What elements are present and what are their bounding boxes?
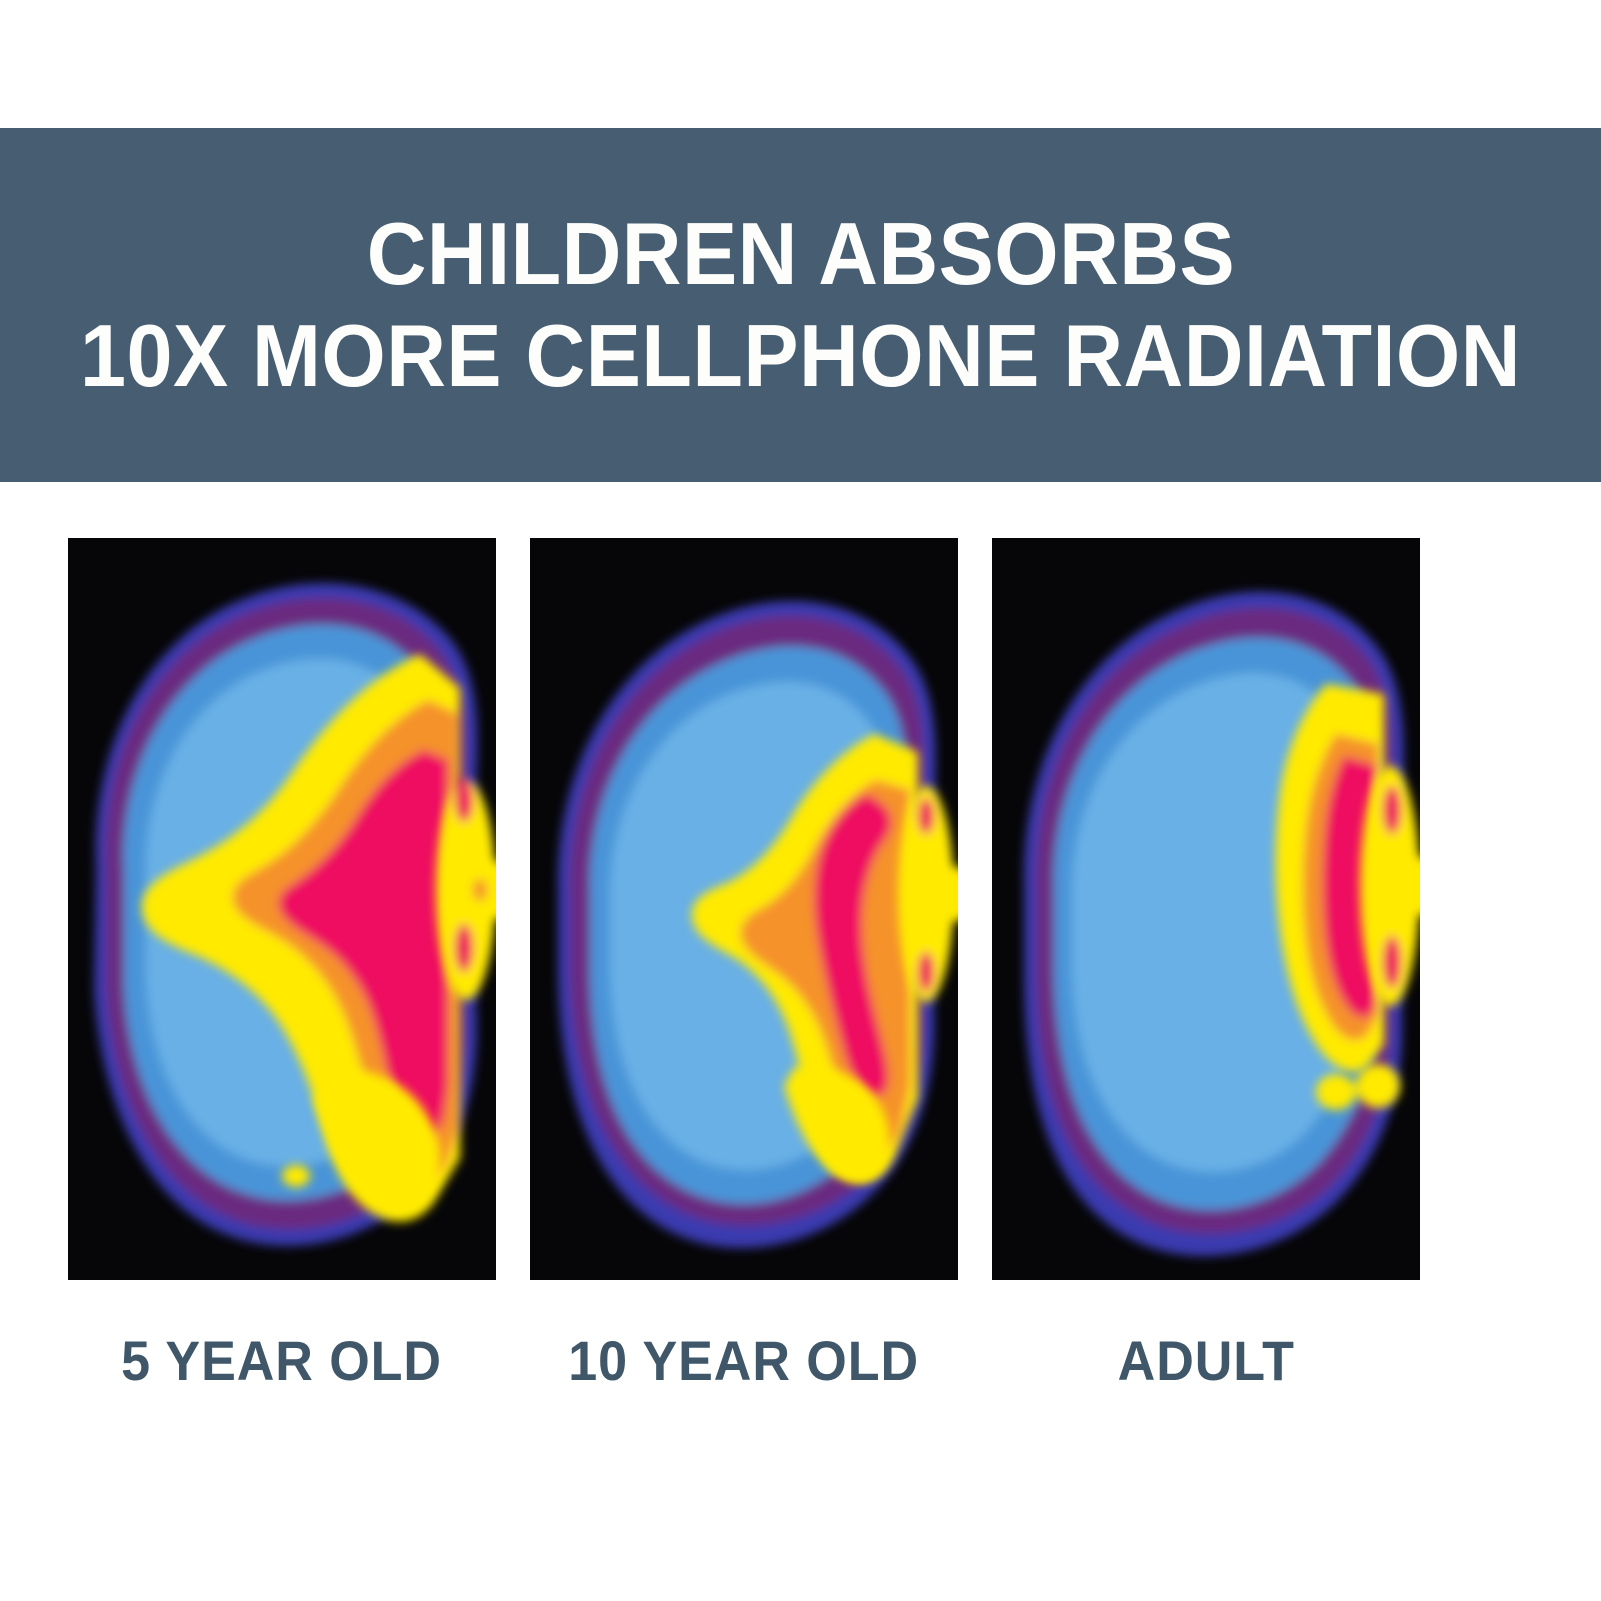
thermal-scan-5-year-old	[68, 538, 496, 1280]
caption-cell-adult: ADULT	[992, 1300, 1420, 1420]
header-banner: CHILDREN ABSORBS 10X MORE CELLPHONE RADI…	[0, 128, 1601, 482]
caption-label-5-year-old: 5 YEAR OLD	[122, 1328, 443, 1393]
thermal-scan-10-year-old-image	[530, 538, 958, 1280]
thermal-scan-adult	[992, 538, 1420, 1280]
caption-label-10-year-old: 10 YEAR OLD	[569, 1328, 920, 1393]
thermal-scan-adult-image	[992, 538, 1420, 1280]
thermal-scan-strip	[68, 538, 1420, 1280]
headline-line-1: CHILDREN ABSORBS	[366, 210, 1234, 298]
thermal-scan-10-year-old	[530, 538, 958, 1280]
caption-cell-5-year-old: 5 YEAR OLD	[68, 1300, 496, 1420]
caption-strip: 5 YEAR OLD 10 YEAR OLD ADULT	[68, 1300, 1420, 1420]
caption-cell-10-year-old: 10 YEAR OLD	[530, 1300, 958, 1420]
caption-label-adult: ADULT	[1117, 1328, 1294, 1393]
headline-line-2: 10X MORE CELLPHONE RADIATION	[80, 312, 1521, 400]
thermal-scan-5-year-old-image	[68, 538, 496, 1280]
